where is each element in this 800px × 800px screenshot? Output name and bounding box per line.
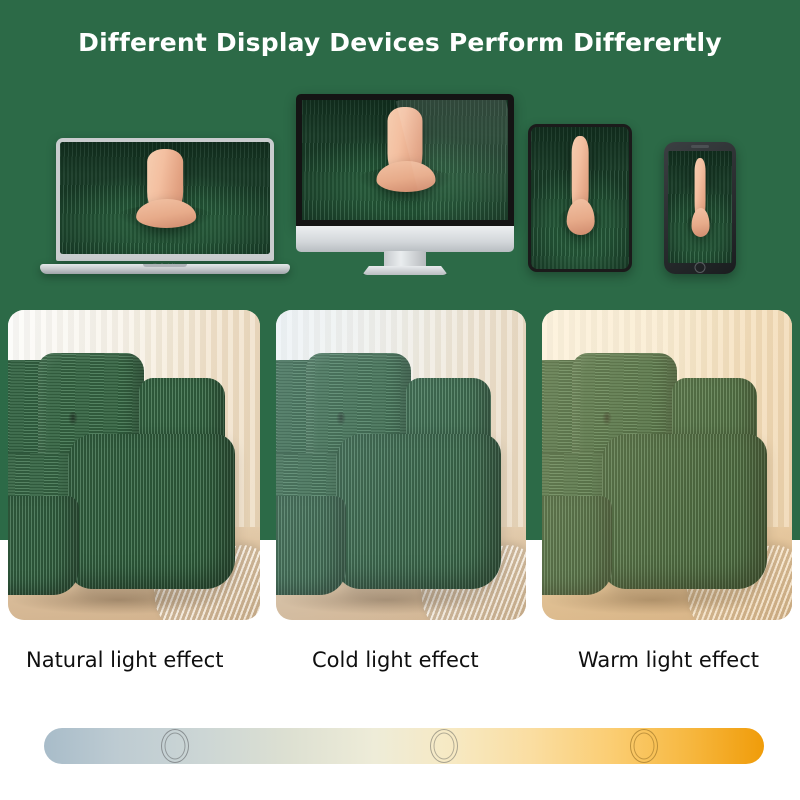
light-panel-cold bbox=[276, 310, 526, 620]
monitor-stand-base bbox=[362, 266, 448, 275]
foot-illustration bbox=[572, 136, 589, 227]
foot-illustration bbox=[695, 158, 706, 230]
sofa-arm-front bbox=[602, 434, 767, 589]
corduroy-sofa bbox=[8, 310, 260, 620]
monitor-screen bbox=[302, 100, 508, 220]
laptop-screen bbox=[60, 142, 270, 254]
room-scene bbox=[542, 310, 792, 620]
light-panel-natural bbox=[8, 310, 260, 620]
device-laptop: MacBook Air bbox=[40, 138, 290, 274]
sofa-floor-shadow bbox=[281, 586, 491, 614]
corduroy-sofa bbox=[276, 310, 526, 620]
phone-screen bbox=[668, 151, 732, 263]
color-temperature-slider[interactable] bbox=[44, 728, 764, 764]
device-desktop-monitor bbox=[296, 94, 514, 274]
laptop-base bbox=[40, 264, 290, 274]
phone-home-button-icon bbox=[695, 262, 706, 273]
corduroy-sofa bbox=[542, 310, 792, 620]
tablet-screen bbox=[531, 127, 629, 269]
foot-illustration bbox=[387, 107, 422, 184]
caption-warm-light: Warm light effect bbox=[578, 648, 759, 672]
monitor-bezel bbox=[296, 94, 514, 226]
monitor-chin bbox=[296, 226, 514, 252]
sofa-arm-front bbox=[336, 434, 501, 589]
light-panel-warm bbox=[542, 310, 792, 620]
slider-marker-warm[interactable] bbox=[630, 729, 658, 763]
laptop-lid: MacBook Air bbox=[56, 138, 274, 261]
sofa-floor-shadow bbox=[547, 586, 757, 614]
sofa-ottoman bbox=[8, 496, 79, 595]
slider-marker-cold[interactable] bbox=[161, 729, 189, 763]
laptop-notch bbox=[143, 264, 187, 267]
room-scene bbox=[276, 310, 526, 620]
device-smartphone bbox=[664, 142, 736, 274]
product-infographic: Different Display Devices Perform Differ… bbox=[0, 0, 800, 800]
sofa-floor-shadow bbox=[13, 586, 225, 614]
device-tablet bbox=[528, 124, 632, 272]
sofa-ottoman bbox=[542, 496, 612, 595]
sofa-arm-front bbox=[68, 434, 234, 589]
panel-captions: Natural light effect Cold light effect W… bbox=[0, 648, 800, 682]
page-title: Different Display Devices Perform Differ… bbox=[0, 28, 800, 57]
foot-illustration bbox=[147, 149, 183, 221]
caption-natural-light: Natural light effect bbox=[26, 648, 223, 672]
light-effect-panels bbox=[0, 310, 800, 620]
slider-marker-natural[interactable] bbox=[430, 729, 458, 763]
caption-cold-light: Cold light effect bbox=[312, 648, 479, 672]
phone-speaker-icon bbox=[691, 145, 709, 148]
sofa-ottoman bbox=[276, 496, 346, 595]
room-scene bbox=[8, 310, 260, 620]
